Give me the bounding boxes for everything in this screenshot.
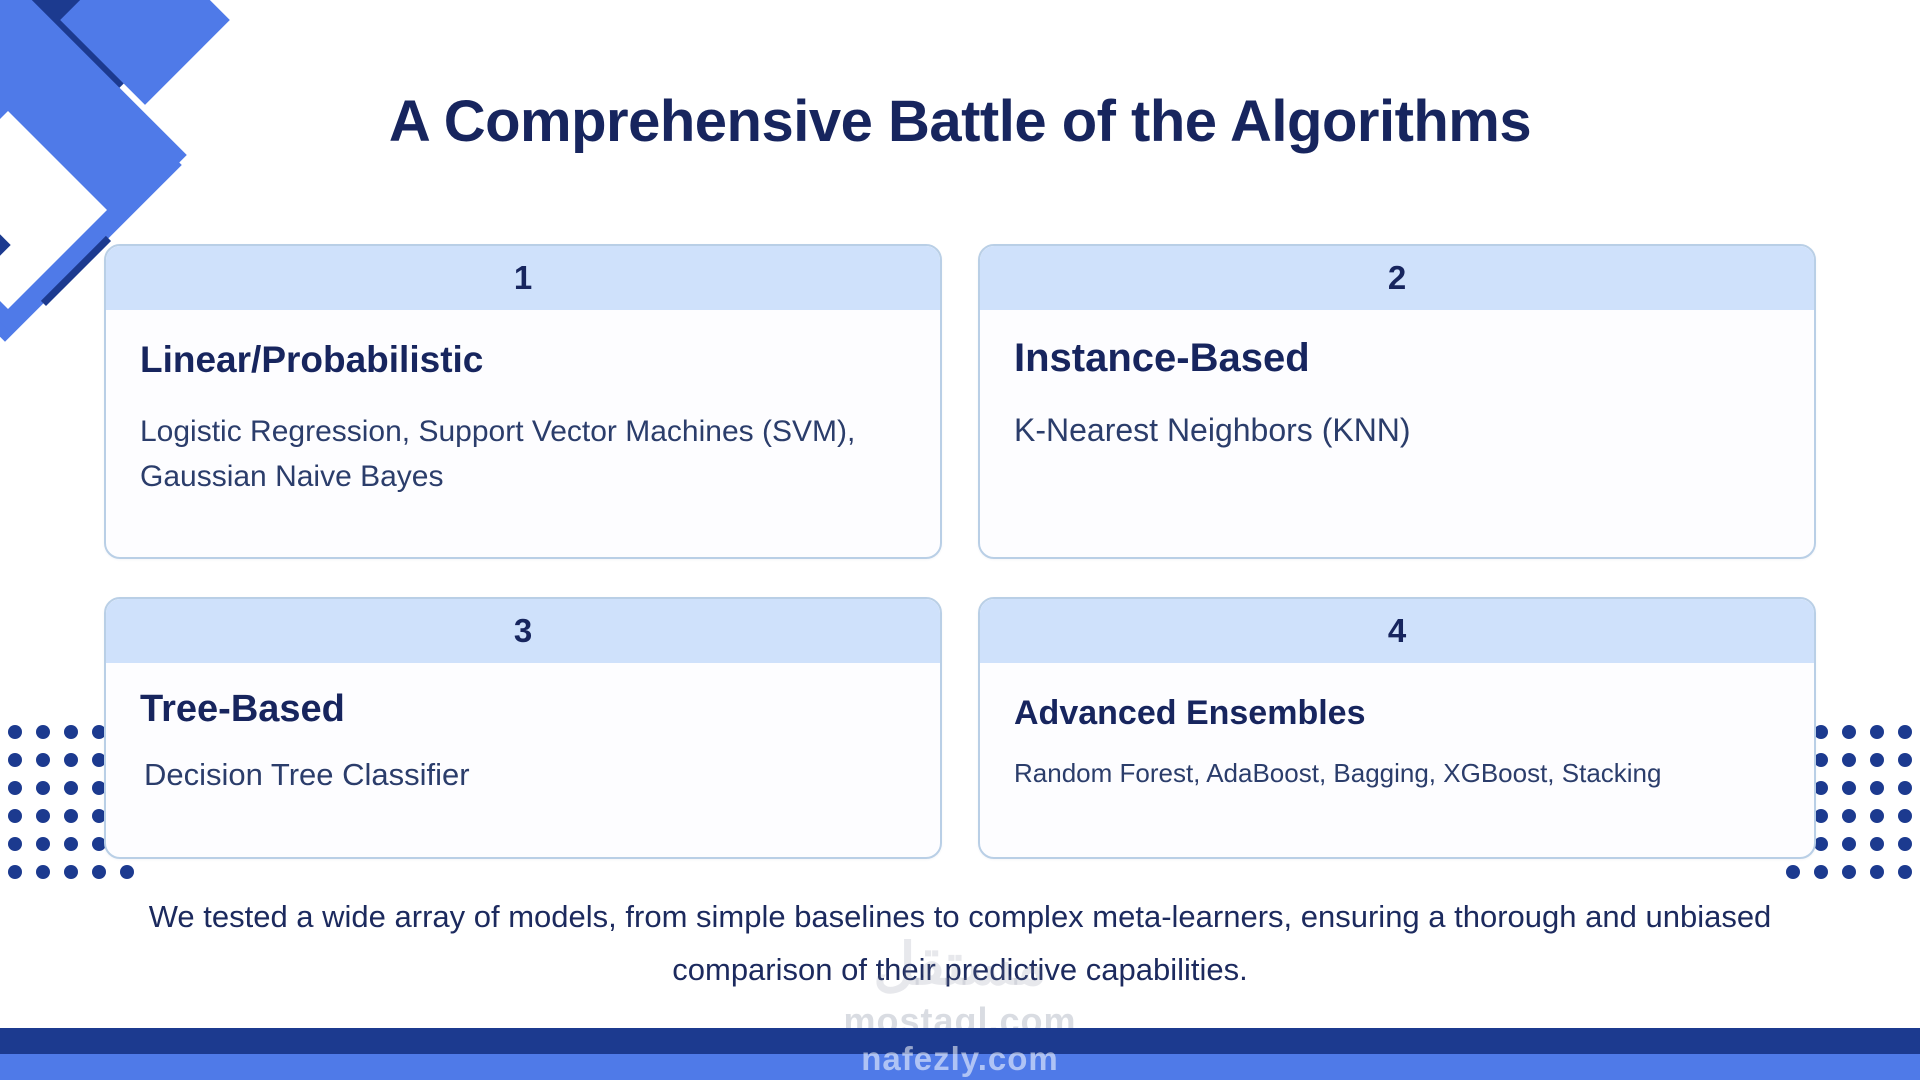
dot	[64, 781, 78, 795]
dot	[1814, 809, 1828, 823]
dot	[36, 837, 50, 851]
dot	[92, 865, 106, 879]
dot	[1870, 837, 1884, 851]
card-text: Random Forest, AdaBoost, Bagging, XGBoos…	[1014, 754, 1780, 794]
dot	[8, 725, 22, 739]
card-text: Logistic Regression, Support Vector Mach…	[140, 409, 906, 500]
dot	[1898, 725, 1912, 739]
card-text: K-Nearest Neighbors (KNN)	[1014, 406, 1780, 455]
card-number-badge: 2	[980, 246, 1814, 310]
card-body: Tree-Based Decision Tree Classifier	[106, 663, 940, 798]
dot	[1898, 865, 1912, 879]
dot	[120, 865, 134, 879]
dot	[36, 865, 50, 879]
dot	[1898, 809, 1912, 823]
card-body: Linear/Probabilistic Logistic Regression…	[106, 310, 940, 500]
dot	[1814, 781, 1828, 795]
dot	[1842, 725, 1856, 739]
dot	[8, 809, 22, 823]
card-title: Tree-Based	[140, 689, 906, 731]
dot	[64, 865, 78, 879]
dot	[1898, 781, 1912, 795]
category-card-3: 3 Tree-Based Decision Tree Classifier	[104, 597, 942, 859]
card-number-badge: 1	[106, 246, 940, 310]
dot	[1814, 753, 1828, 767]
dot	[36, 753, 50, 767]
dot	[1898, 837, 1912, 851]
dot	[1870, 725, 1884, 739]
dot	[1842, 837, 1856, 851]
bottom-bar-light	[0, 1054, 1920, 1080]
diamond-shape	[0, 174, 11, 315]
dot	[36, 725, 50, 739]
category-card-2: 2 Instance-Based K-Nearest Neighbors (KN…	[978, 244, 1816, 559]
dot	[64, 837, 78, 851]
dot	[36, 781, 50, 795]
dot	[1814, 865, 1828, 879]
dot	[1898, 753, 1912, 767]
card-number-badge: 4	[980, 599, 1814, 663]
dot	[1842, 753, 1856, 767]
card-body: Advanced Ensembles Random Forest, AdaBoo…	[980, 663, 1814, 794]
dot	[64, 753, 78, 767]
slide-title: A Comprehensive Battle of the Algorithms	[0, 88, 1920, 155]
dot	[1814, 725, 1828, 739]
card-number-badge: 3	[106, 599, 940, 663]
dot	[8, 753, 22, 767]
dot	[8, 865, 22, 879]
category-card-1: 1 Linear/Probabilistic Logistic Regressi…	[104, 244, 942, 559]
dot	[8, 781, 22, 795]
footer-description: We tested a wide array of models, from s…	[110, 890, 1810, 997]
card-body: Instance-Based K-Nearest Neighbors (KNN)	[980, 310, 1814, 455]
category-card-grid: 1 Linear/Probabilistic Logistic Regressi…	[104, 244, 1816, 859]
dot	[64, 725, 78, 739]
dot	[1786, 865, 1800, 879]
dot	[1870, 781, 1884, 795]
category-card-4: 4 Advanced Ensembles Random Forest, AdaB…	[978, 597, 1816, 859]
dot	[36, 809, 50, 823]
dot	[1870, 753, 1884, 767]
dot	[1870, 809, 1884, 823]
bottom-bar-dark	[0, 1028, 1920, 1054]
diamond-shape	[0, 176, 111, 306]
dot	[1842, 781, 1856, 795]
card-title: Linear/Probabilistic	[140, 340, 906, 381]
presentation-slide: A Comprehensive Battle of the Algorithms…	[0, 0, 1920, 1080]
dot	[64, 809, 78, 823]
card-title: Advanced Ensembles	[1014, 695, 1780, 732]
card-text: Decision Tree Classifier	[140, 751, 906, 798]
dot	[1842, 865, 1856, 879]
dot	[1842, 809, 1856, 823]
dot	[1814, 837, 1828, 851]
dot	[8, 837, 22, 851]
dot	[1870, 865, 1884, 879]
card-title: Instance-Based	[1014, 336, 1780, 380]
